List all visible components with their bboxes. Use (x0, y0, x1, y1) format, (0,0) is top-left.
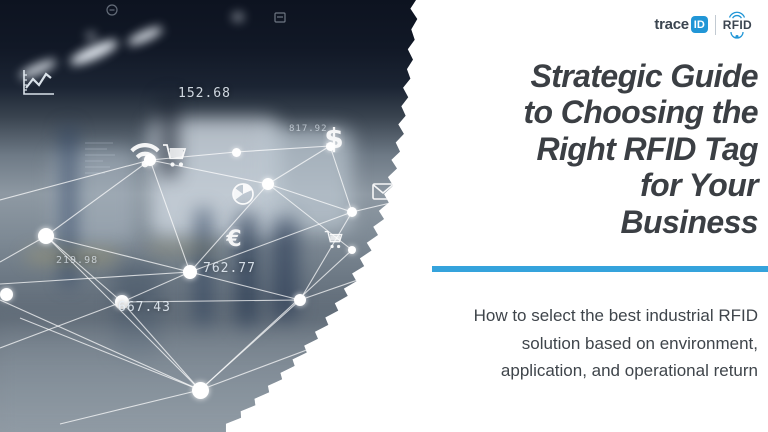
headline-line-5: Business (338, 204, 758, 240)
logo-separator (715, 15, 716, 35)
network-node (294, 294, 306, 306)
shopping-cart-icon (162, 143, 188, 169)
hud-marker-icon (274, 12, 286, 23)
rfid-base-icon (729, 31, 745, 39)
data-readout-3: 219.98 (56, 255, 98, 266)
subhead-line-2: solution based on environment, (348, 330, 758, 358)
subhead-line-3: application, and operational return (348, 357, 758, 385)
page-title: Strategic Guide to Choosing the Right RF… (338, 58, 758, 240)
data-readout-2: 817.92 (289, 124, 328, 134)
headline-line-1: Strategic Guide (338, 58, 758, 94)
wifi-icon (128, 140, 162, 168)
network-node (262, 178, 274, 190)
network-node (38, 228, 54, 244)
svg-text:€: € (225, 227, 241, 250)
headline-line-4: for Your (338, 167, 758, 203)
data-readout-1: 152.68 (178, 86, 231, 101)
logo-id-badge: ID (691, 16, 708, 33)
network-node (232, 148, 241, 157)
page-subtitle: How to select the best industrial RFID s… (348, 302, 758, 385)
brand-logo[interactable]: trace ID RFID (654, 10, 752, 39)
network-node (183, 265, 197, 279)
network-node (0, 288, 13, 301)
headline-line-3: Right RFID Tag (338, 131, 758, 167)
network-node (192, 382, 209, 399)
euro-sign-icon: € (224, 226, 244, 250)
logo-trace-text: trace (654, 16, 688, 33)
logo-rfid-text: RFID (723, 19, 752, 31)
line-chart-icon (20, 68, 56, 98)
data-readout-4: 762.77 (203, 261, 256, 276)
hud-panel-icon (84, 140, 124, 176)
subhead-line-1: How to select the best industrial RFID (348, 302, 758, 330)
accent-divider (432, 266, 768, 272)
hud-marker-icon (106, 4, 118, 16)
pie-chart-icon (231, 182, 255, 206)
headline-line-2: to Choosing the (338, 94, 758, 130)
network-node (348, 246, 356, 254)
promotional-banner: 152.68 817.92 219.98 762.77 667.43 $ (0, 0, 768, 432)
data-readout-5: 667.43 (118, 300, 171, 315)
